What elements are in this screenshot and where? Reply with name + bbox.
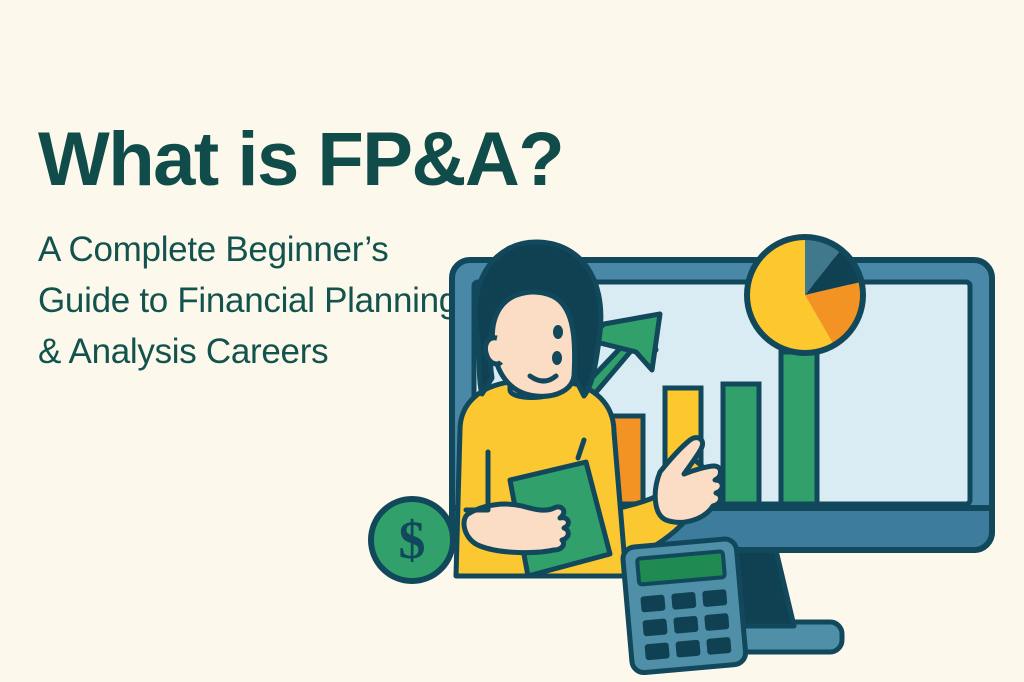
calculator-key[interactable] (702, 589, 727, 607)
calculator-key[interactable] (644, 642, 669, 660)
calculator-display (637, 551, 725, 584)
dollar-coin: $ (371, 499, 453, 581)
fpa-workspace-illustration: $ (360, 190, 1024, 682)
calculator-key[interactable] (675, 640, 700, 658)
calculator-key[interactable] (671, 592, 696, 610)
pie-chart (747, 237, 863, 353)
calculator-key[interactable] (673, 616, 698, 634)
calculator-keypad (640, 589, 731, 660)
calculator-key[interactable] (704, 613, 729, 631)
person-eye (553, 325, 563, 339)
calculator-key[interactable] (706, 637, 731, 655)
bar-5 (781, 352, 817, 504)
bar-4 (723, 384, 759, 504)
poster-canvas: What is FP&A? A Complete Beginner’s Guid… (0, 0, 1024, 682)
calculator-key[interactable] (640, 594, 665, 612)
dollar-sign-icon: $ (399, 510, 426, 570)
calculator (622, 538, 747, 673)
calculator-key[interactable] (642, 618, 667, 636)
person-nose (552, 351, 562, 365)
illustration-svg: $ (360, 190, 1024, 682)
